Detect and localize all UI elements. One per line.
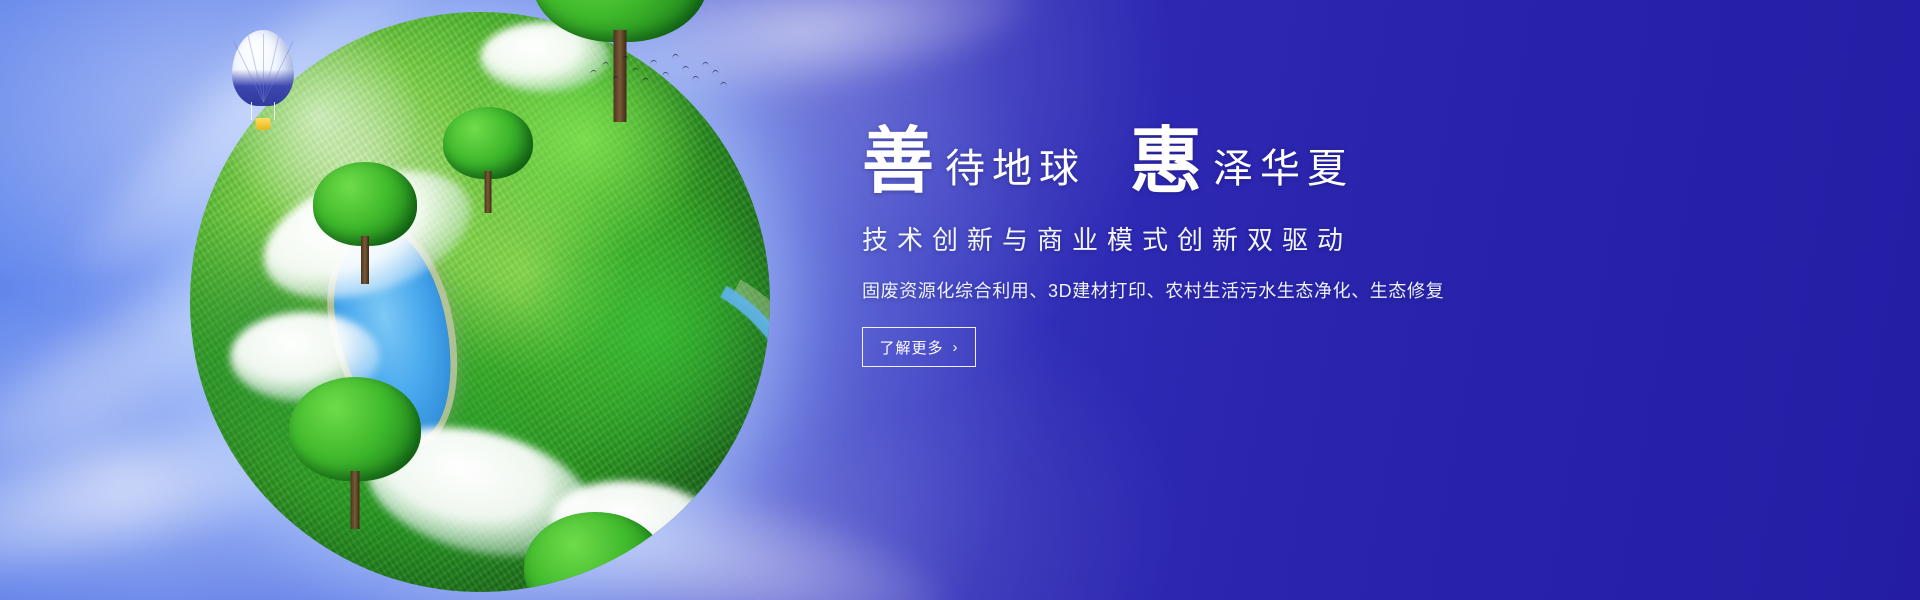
tree-icon xyxy=(310,162,420,282)
tree-trunk xyxy=(351,471,360,529)
hero-copy: 善 待地球 惠 泽华夏 技术创新与商业模式创新双驱动 固废资源化综合利用、3D建… xyxy=(862,126,1562,367)
balloon-envelope xyxy=(232,30,294,106)
tree-trunk xyxy=(485,171,492,213)
tree-icon xyxy=(285,377,425,527)
tree-crown xyxy=(289,377,421,481)
page-title: 善 待地球 惠 泽华夏 xyxy=(862,126,1562,198)
headline-part2-primary: 惠 xyxy=(1130,126,1203,198)
tree-crown xyxy=(313,162,417,246)
hero-banner: 善 待地球 惠 泽华夏 技术创新与商业模式创新双驱动 固废资源化综合利用、3D建… xyxy=(0,0,1920,600)
tree-crown xyxy=(524,512,666,592)
balloon-basket xyxy=(256,118,271,130)
chevron-right-icon: › xyxy=(953,340,959,355)
tree-crown xyxy=(663,532,770,592)
hot-air-balloon-icon xyxy=(232,30,294,134)
headline-part1-primary: 善 xyxy=(862,126,935,198)
headline-part2-secondary: 泽华夏 xyxy=(1213,149,1354,189)
hero-description: 固废资源化综合利用、3D建材打印、农村生活污水生态净化、生态修复 xyxy=(862,277,1562,303)
headline-part1-secondary: 待地球 xyxy=(945,149,1086,189)
learn-more-button[interactable]: 了解更多 › xyxy=(862,327,976,367)
tree-crown xyxy=(443,107,533,179)
tree-icon xyxy=(660,532,770,592)
hero-subtitle: 技术创新与商业模式创新双驱动 xyxy=(862,220,1562,257)
tree-icon xyxy=(520,512,670,592)
birds-flock-icon xyxy=(588,48,728,94)
tree-trunk xyxy=(361,236,369,284)
learn-more-label: 了解更多 xyxy=(879,337,943,358)
tree-icon xyxy=(440,107,536,211)
